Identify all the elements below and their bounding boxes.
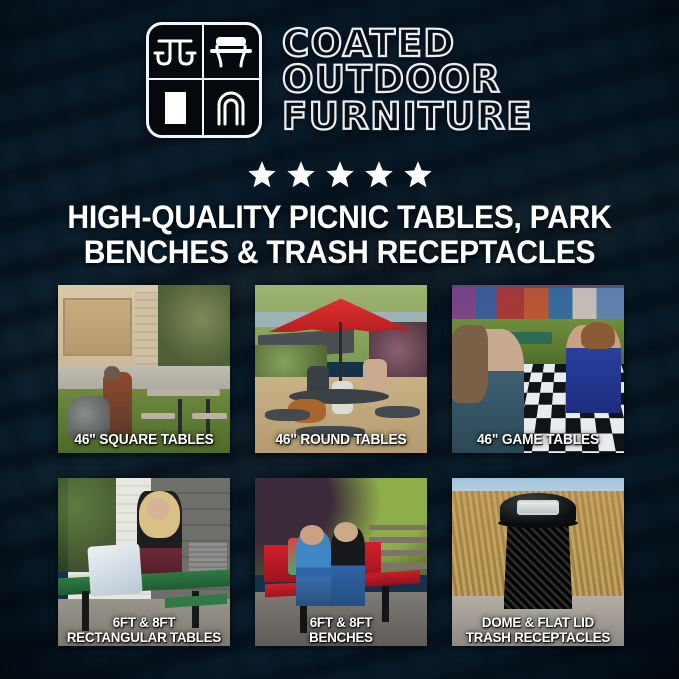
product-caption: DOME & FLAT LID TRASH RECEPTACLES — [456, 615, 619, 644]
product-caption: 46" ROUND TABLES — [259, 433, 422, 448]
product-caption: 6FT & 8FT BENCHES — [259, 615, 422, 644]
star-icon — [364, 160, 394, 189]
product-tile-square-tables[interactable]: 46" SQUARE TABLES — [58, 285, 230, 453]
headline-line-2: BENCHES & TRASH RECEPTACLES — [20, 235, 658, 270]
product-photo-round-tables — [255, 285, 427, 453]
star-icon — [403, 160, 433, 189]
product-photo-game-tables — [452, 285, 624, 453]
product-caption: 6FT & 8FT RECTANGULAR TABLES — [62, 615, 225, 644]
product-tile-trash-receptacles[interactable]: DOME & FLAT LID TRASH RECEPTACLES — [452, 478, 624, 646]
brand-header: COATED OUTDOOR FURNITURE — [0, 22, 679, 138]
headline: HIGH-QUALITY PICNIC TABLES, PARK BENCHES… — [20, 200, 658, 269]
product-tile-game-tables[interactable]: 46" GAME TABLES — [452, 285, 624, 453]
logo-icon-grid — [146, 22, 262, 138]
star-rating — [0, 160, 679, 189]
headline-line-1: HIGH-QUALITY PICNIC TABLES, PARK — [20, 200, 658, 235]
trash-receptacle-icon — [149, 80, 204, 135]
product-tile-round-tables[interactable]: 46" ROUND TABLES — [255, 285, 427, 453]
product-caption: 46" GAME TABLES — [456, 433, 619, 448]
star-icon — [325, 160, 355, 189]
picnic-table-icon — [149, 25, 204, 80]
bike-rack-arch-icon — [204, 80, 259, 135]
logo-wordmark: COATED OUTDOOR FURNITURE — [282, 26, 533, 135]
promotional-banner: COATED OUTDOOR FURNITURE HIGH-QUALITY PI… — [0, 0, 679, 679]
product-caption: 46" SQUARE TABLES — [62, 433, 225, 448]
park-bench-icon — [204, 25, 259, 80]
wordmark-line-3: FURNITURE — [282, 99, 533, 135]
product-tile-rectangular-tables[interactable]: 6FT & 8FT RECTANGULAR TABLES — [58, 478, 230, 646]
wordmark-line-2: OUTDOOR — [282, 62, 533, 98]
product-tile-benches[interactable]: 6FT & 8FT BENCHES — [255, 478, 427, 646]
product-grid: 46" SQUARE TABLES 46" ROUND TABLES — [58, 285, 624, 646]
star-icon — [286, 160, 316, 189]
logo: COATED OUTDOOR FURNITURE — [146, 22, 533, 138]
star-icon — [247, 160, 277, 189]
product-photo-square-tables — [58, 285, 230, 453]
wordmark-line-1: COATED — [282, 26, 533, 62]
